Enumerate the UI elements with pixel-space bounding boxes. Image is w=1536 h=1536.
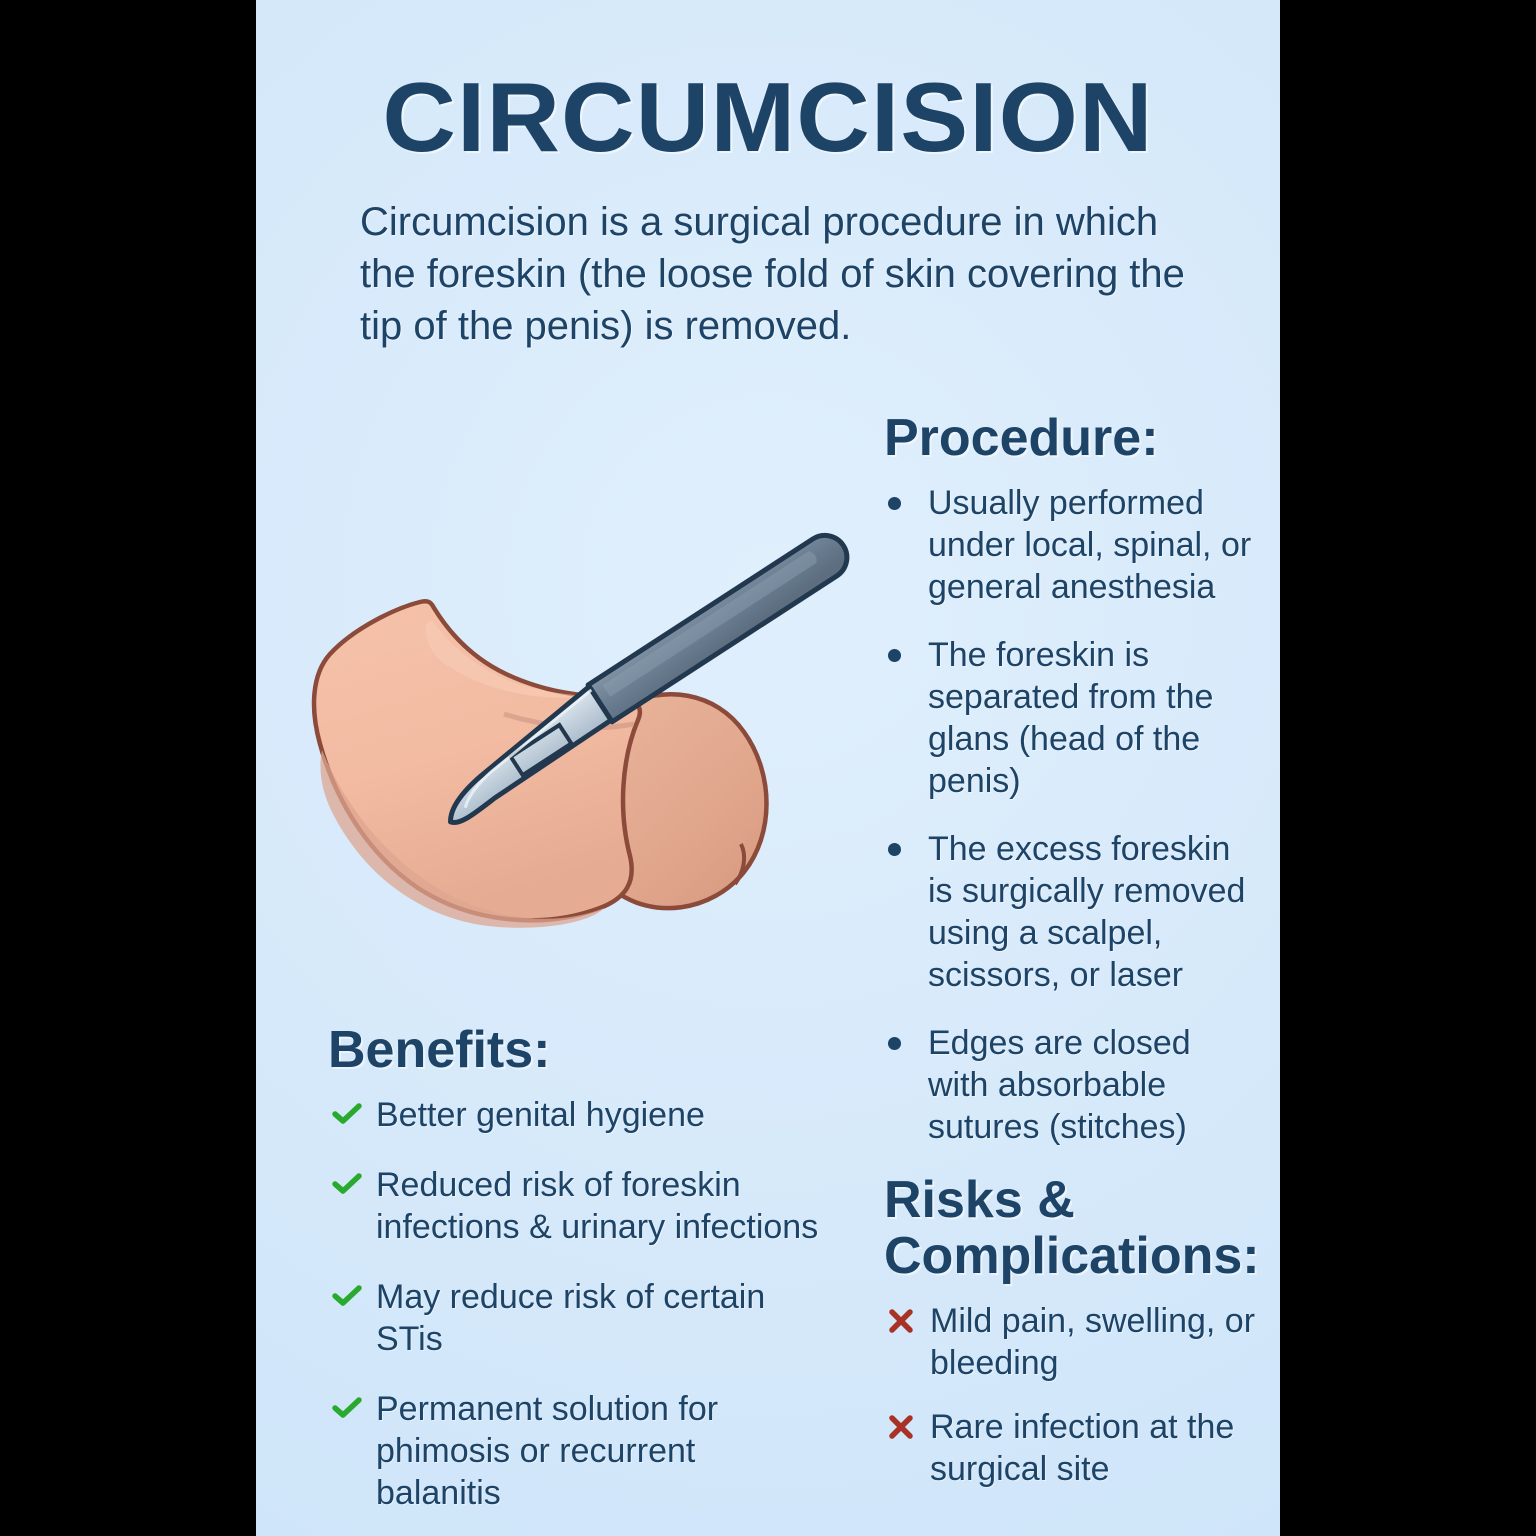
list-item: Permanent solution for phimosis or recur… [328,1388,828,1514]
list-item-label: The foreskin is separated from the glans… [928,636,1213,800]
list-item: Rare infection at the surgical site [884,1406,1256,1490]
list-item-label: Usually performed under local, spinal, o… [928,484,1251,606]
check-icon [332,1164,362,1196]
bullet-dot-icon [888,828,918,870]
list-item-label: Rare infection at the surgical site [930,1408,1234,1488]
list-item: Better genital hygiene [328,1094,828,1136]
list-item: Mild pain, swelling, or bleeding [884,1300,1256,1384]
procedure-list: Usually performed under local, spinal, o… [884,482,1256,1148]
benefits-list: Better genital hygiene Reduced risk of f… [328,1094,828,1514]
check-icon [332,1276,362,1308]
bullet-dot-icon [888,1022,918,1064]
bullet-dot-icon [888,482,918,524]
list-item: May reduce risk of certain STis [328,1276,828,1360]
infographic-poster: CIRCUMCISION Circumcision is a surgical … [256,0,1280,1536]
procedure-section: Procedure: Usually performed under local… [884,410,1256,1174]
check-icon [332,1094,362,1126]
intro-paragraph: Circumcision is a surgical procedure in … [360,196,1200,352]
benefits-heading: Benefits: [328,1022,828,1078]
list-item-label: Reduced risk of foreskin infections & ur… [376,1166,818,1246]
cross-icon [888,1300,918,1334]
penis-with-scalpel-illustration [292,452,892,1012]
shaft-shape [314,601,640,928]
list-item: The foreskin is separated from the glans… [884,634,1256,802]
list-item-label: Edges are closed with absorbable sutures… [928,1024,1191,1146]
list-item: Edges are closed with absorbable sutures… [884,1022,1256,1148]
screenshot-stage: CIRCUMCISION Circumcision is a surgical … [0,0,1536,1536]
cross-icon [888,1406,918,1440]
list-item-label: Better genital hygiene [376,1096,705,1134]
risks-list: Mild pain, swelling, or bleeding Rare in… [884,1300,1256,1490]
bullet-dot-icon [888,634,918,676]
list-item: Reduced risk of foreskin infections & ur… [328,1164,828,1248]
procedure-heading: Procedure: [884,410,1256,466]
list-item: Usually performed under local, spinal, o… [884,482,1256,608]
list-item-label: Mild pain, swelling, or bleeding [930,1302,1255,1382]
page-title: CIRCUMCISION [256,68,1280,166]
list-item: The excess foreskin is surgically remove… [884,828,1256,996]
risks-heading: Risks & Complications: [884,1172,1256,1284]
check-icon [332,1388,362,1420]
list-item-label: Permanent solution for phimosis or recur… [376,1390,718,1512]
list-item-label: May reduce risk of certain STis [376,1278,765,1358]
risks-section: Risks & Complications: Mild pain, swelli… [884,1172,1256,1512]
list-item-label: The excess foreskin is surgically remove… [928,830,1245,994]
benefits-section: Benefits: Better genital hygiene Reduced… [328,1022,828,1536]
